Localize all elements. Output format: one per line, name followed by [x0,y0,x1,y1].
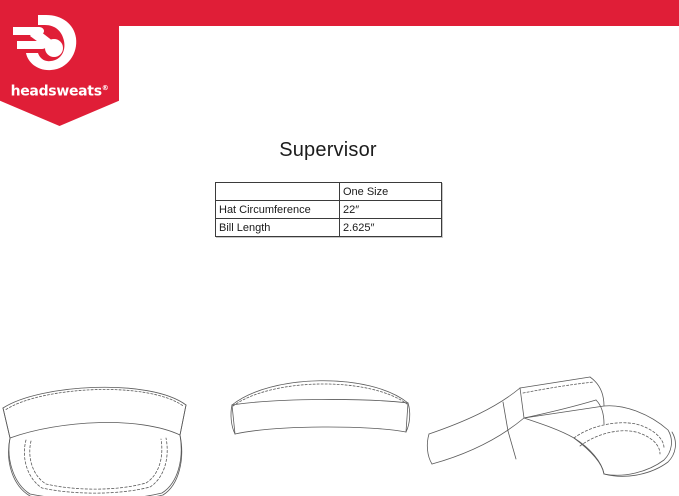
brand-wordmark: headsweats® [0,80,119,100]
table-header-row: One Size [216,183,442,201]
page-title: Supervisor [215,139,441,162]
table-header-blank [216,183,340,201]
row-value-hat-circumference: 22″ [340,201,442,219]
brand-name-text: headsweats [11,84,102,100]
size-chart-table: One Size Hat Circumference 22″ Bill Leng… [215,182,442,237]
row-label-bill-length: Bill Length [216,219,340,237]
row-label-hat-circumference: Hat Circumference [216,201,340,219]
table-header-one-size: One Size [340,183,442,201]
visor-side-view-illustration [424,362,679,496]
table-row: Hat Circumference 22″ [216,201,442,219]
product-illustrations [0,362,679,496]
registered-trademark-icon: ® [102,84,109,92]
visor-front-view-illustration [0,362,212,496]
headsweats-winged-d-logo-icon [12,14,92,76]
brand-banner: headsweats® [0,0,119,126]
visor-back-view-illustration [228,362,414,496]
row-value-bill-length: 2.625″ [340,219,442,237]
table-row: Bill Length 2.625″ [216,219,442,237]
product-size-chart-page: headsweats® Supervisor One Size Hat Circ… [0,0,679,496]
